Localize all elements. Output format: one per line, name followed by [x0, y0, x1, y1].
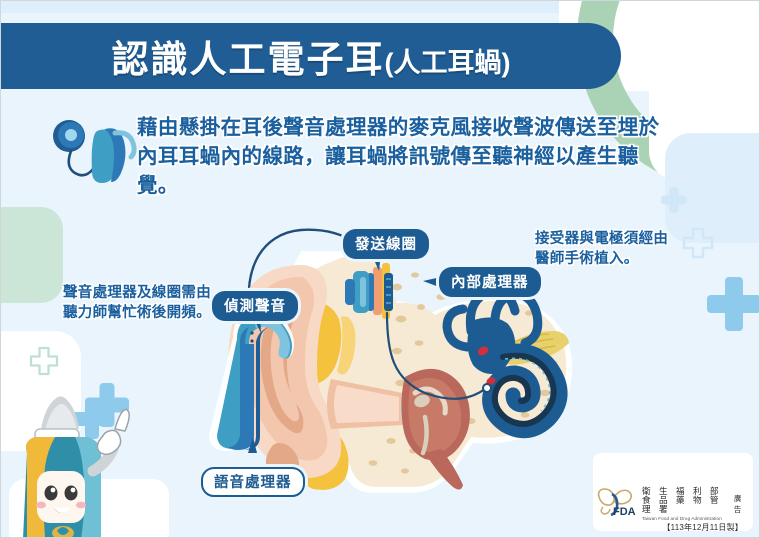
infographic-poster: 認識人工電子耳(人工耳蝸) 藉由懸掛在耳後聲音處理器的麥克風接收聲波傳送至埋於內… [0, 0, 760, 538]
callout-speech-processor[interactable]: 語音處理器 [201, 467, 305, 497]
fda-logo-icon: FDA [595, 485, 637, 517]
callout-internal-processor[interactable]: 內部處理器 [439, 267, 541, 297]
note-sound-processor-tuning: 聲音處理器及線圈需由聽力師幫忙術後開頻。 [63, 283, 213, 323]
fda-baby-bottle-mascot-icon [23, 397, 129, 538]
callout-detect-sound[interactable]: 偵測聲音 [212, 291, 298, 321]
page-title-main: 認識人工電子耳 [112, 39, 385, 80]
date-stamp: 【113年12月11日製】 [662, 522, 743, 533]
note-surgical-implantation: 接受器與電極須經由醫師手術植入。 [535, 229, 671, 269]
cochlear-implant-device-icon [53, 120, 134, 183]
page-title-sub: (人工耳蝸) [385, 48, 511, 78]
fda-agency-line2: 食 品 藥 物 管 理 署 [642, 496, 726, 514]
intro-paragraph: 藉由懸掛在耳後聲音處理器的麥克風接收聲波傳送至埋於內耳耳蝸內的線路，讓耳蝸將訊號… [137, 113, 662, 200]
callout-transmit-coil[interactable]: 發送線圈 [343, 229, 429, 259]
svg-text:FDA: FDA [613, 506, 636, 517]
advertisement-label: 廣告 [734, 493, 745, 515]
fda-agency-text: 衛 生 福 利 部 食 品 藥 物 管 理 署 Taiwan Food and … [642, 485, 726, 523]
page-title: 認識人工電子耳(人工耳蝸) [112, 29, 511, 83]
header-bar: 認識人工電子耳(人工耳蝸) [1, 23, 621, 89]
footer-logo-block: FDA 衛 生 福 利 部 食 品 藥 物 管 理 署 Taiwan Food … [595, 485, 745, 523]
